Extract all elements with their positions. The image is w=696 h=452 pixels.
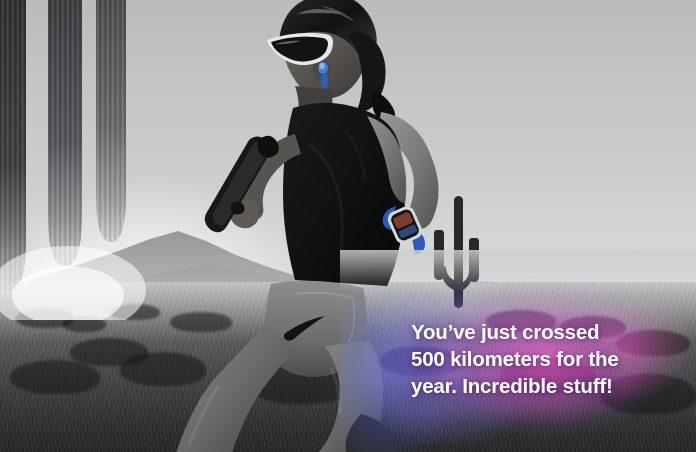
message-line-2: 500 kilometers for the: [411, 346, 671, 373]
saguaro-cactus-left-icon: [0, 0, 182, 320]
message-line-1: You’ve just crossed: [411, 319, 671, 346]
achievement-message: You’ve just crossed 500 kilometers for t…: [411, 319, 671, 400]
desert-brush: [10, 360, 100, 394]
message-line-3: year. Incredible stuff!: [411, 373, 671, 400]
achievement-banner: You’ve just crossed 500 kilometers for t…: [0, 0, 696, 452]
